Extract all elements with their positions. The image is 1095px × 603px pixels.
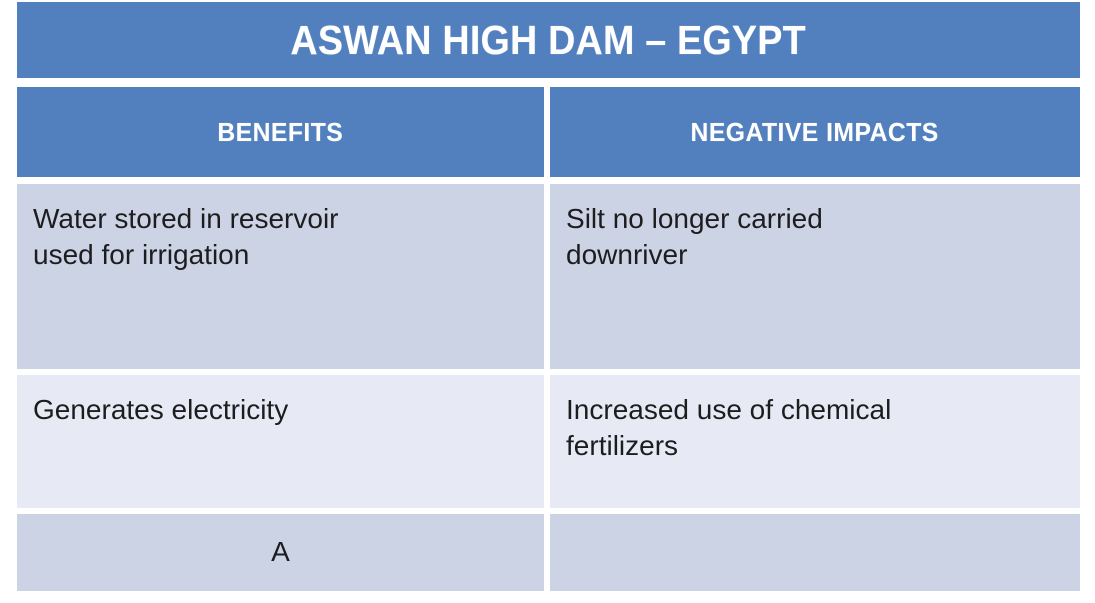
cell-negative-impacts-3-text xyxy=(566,531,1064,532)
page-title: ASWAN HIGH DAM – EGYPT xyxy=(291,20,806,61)
table-title-bar: ASWAN HIGH DAM – EGYPT xyxy=(17,2,1080,78)
cell-negative-impacts-3 xyxy=(550,514,1080,591)
cell-negative-impacts-1: Silt no longer carried downriver xyxy=(550,184,1080,369)
cell-negative-impacts-2-text: Increased use of chemical fertilizers xyxy=(566,394,891,461)
page-canvas: ASWAN HIGH DAM – EGYPT BENEFITS NEGATIVE… xyxy=(0,0,1095,603)
column-header-benefits-label: BENEFITS xyxy=(218,117,344,148)
cell-benefits-3-text: A xyxy=(271,534,290,570)
column-header-benefits: BENEFITS xyxy=(17,87,544,177)
table-row: A xyxy=(17,514,1080,591)
table-row: Generates electricity Increased use of c… xyxy=(17,375,1080,508)
cell-benefits-1: Water stored in reservoir used for irrig… xyxy=(17,184,544,369)
cell-negative-impacts-1-text: Silt no longer carried downriver xyxy=(566,203,823,270)
cell-benefits-3: A xyxy=(17,514,544,591)
cell-benefits-1-text: Water stored in reservoir used for irrig… xyxy=(33,203,339,270)
cell-benefits-2-text: Generates electricity xyxy=(33,394,288,425)
cell-negative-impacts-2: Increased use of chemical fertilizers xyxy=(550,375,1080,508)
column-header-negative-impacts: NEGATIVE IMPACTS xyxy=(550,87,1080,177)
cell-benefits-2: Generates electricity xyxy=(17,375,544,508)
table-header-row: BENEFITS NEGATIVE IMPACTS xyxy=(17,87,1080,177)
table-row: Water stored in reservoir used for irrig… xyxy=(17,184,1080,369)
comparison-table: ASWAN HIGH DAM – EGYPT BENEFITS NEGATIVE… xyxy=(17,2,1080,591)
column-header-negative-impacts-label: NEGATIVE IMPACTS xyxy=(691,117,939,148)
